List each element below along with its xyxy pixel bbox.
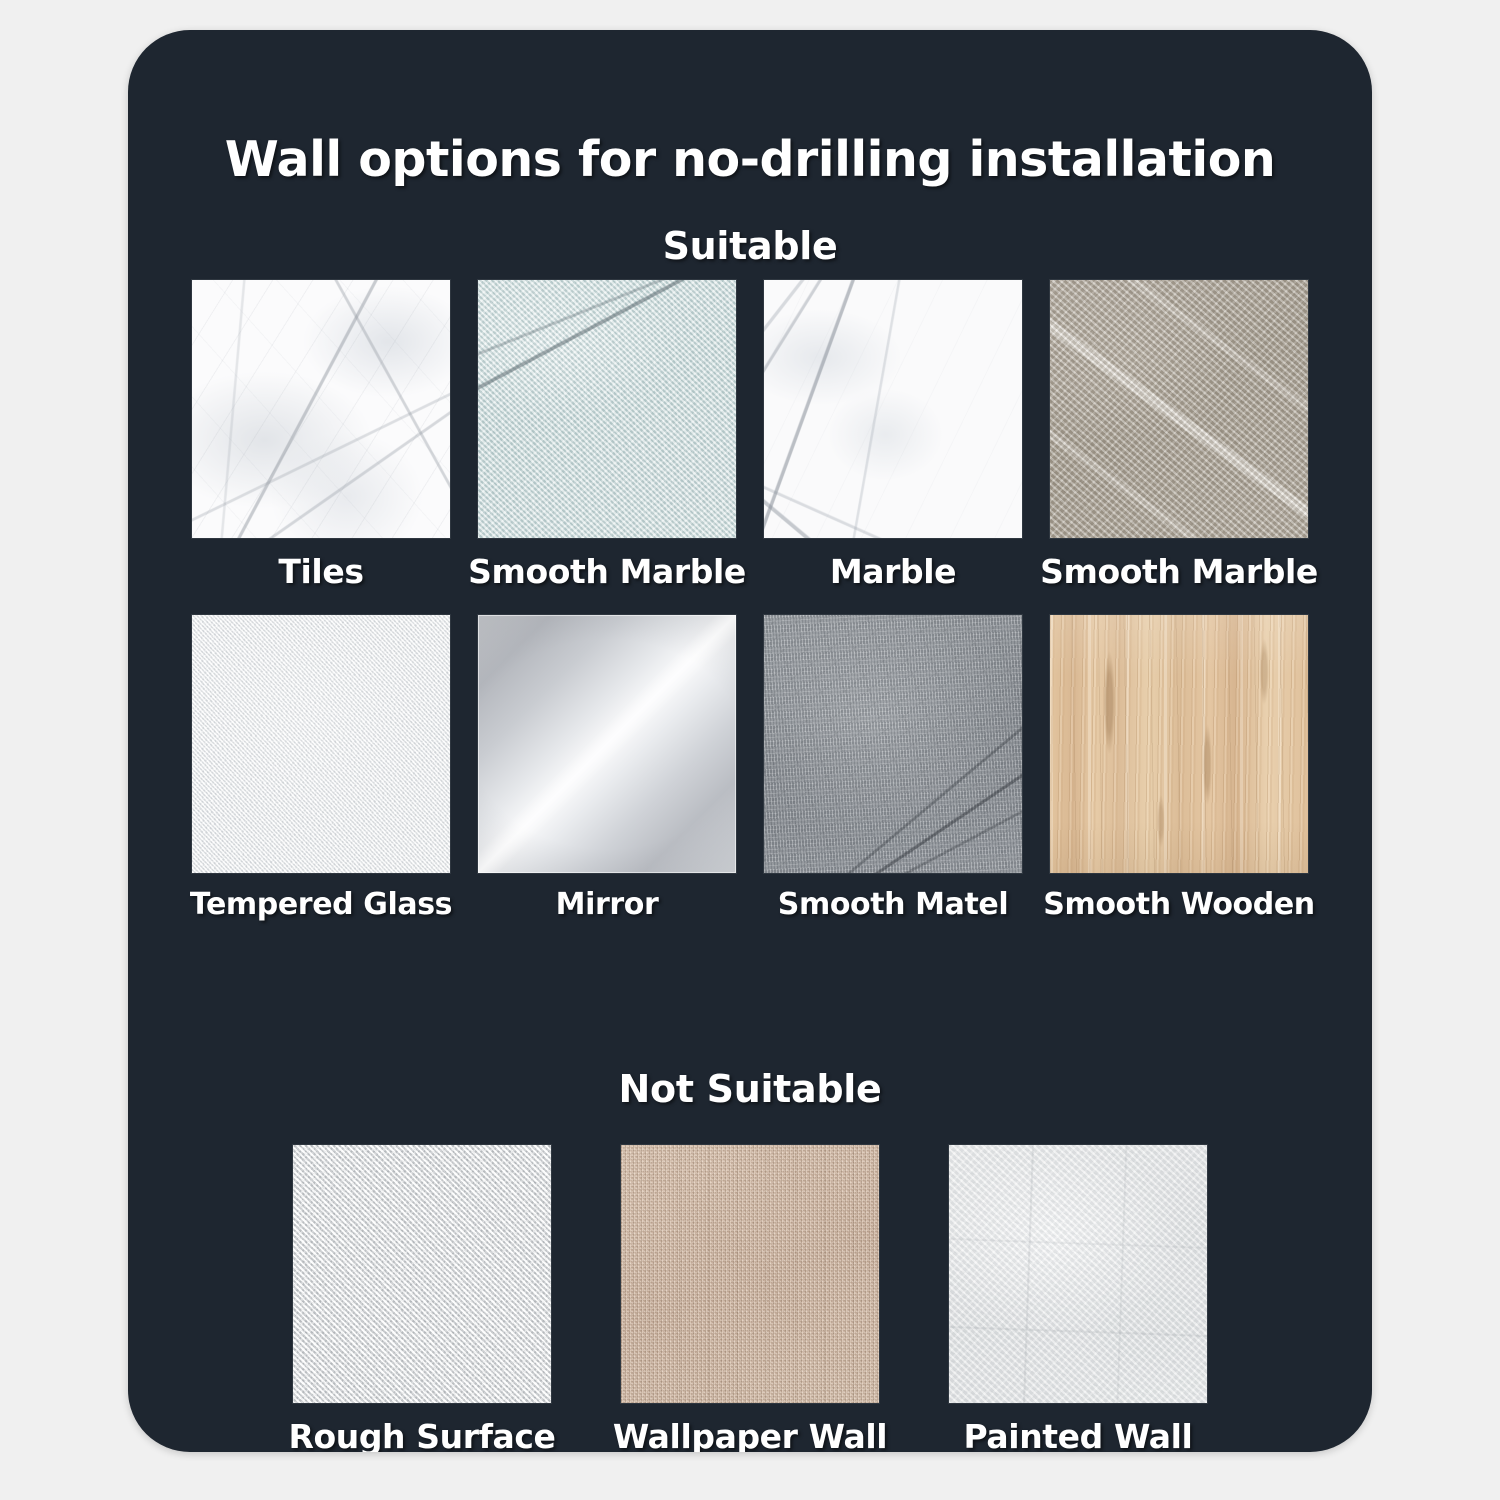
swatch-image-marble xyxy=(764,280,1022,538)
swatch-label-mirror: Mirror xyxy=(556,887,659,922)
suitable-grid-row-1: Tiles Smooth Marble Marble Smooth Marble xyxy=(128,280,1372,591)
swatch-label-smooth-marble-grey: Smooth Marble xyxy=(1040,552,1318,591)
swatch-label-smooth-marble-blue: Smooth Marble xyxy=(468,552,746,591)
swatch-label-smooth-wooden: Smooth Wooden xyxy=(1043,887,1314,922)
swatch-cell-smooth-wooden[interactable]: Smooth Wooden xyxy=(1050,615,1308,922)
swatch-cell-smooth-matel[interactable]: Smooth Matel xyxy=(764,615,1022,922)
page-title: Wall options for no-drilling installatio… xyxy=(128,131,1372,188)
swatch-label-wallpaper-wall: Wallpaper Wall xyxy=(613,1417,887,1452)
swatch-image-painted-wall xyxy=(949,1145,1207,1403)
section-heading-suitable: Suitable xyxy=(128,224,1372,268)
swatch-image-mirror xyxy=(478,615,736,873)
swatch-cell-tempered-glass[interactable]: Tempered Glass xyxy=(192,615,450,922)
swatch-label-rough-surface: Rough Surface xyxy=(288,1417,555,1452)
swatch-cell-wallpaper-wall[interactable]: Wallpaper Wall xyxy=(621,1145,879,1452)
swatch-image-rough-surface xyxy=(293,1145,551,1403)
not-suitable-grid-row-1: Rough Surface Wallpaper Wall Painted Wal… xyxy=(128,1145,1372,1452)
swatch-image-smooth-wooden xyxy=(1050,615,1308,873)
swatch-label-tiles: Tiles xyxy=(278,552,363,591)
swatch-image-smooth-matel xyxy=(764,615,1022,873)
swatch-cell-rough-surface[interactable]: Rough Surface xyxy=(293,1145,551,1452)
swatch-label-marble: Marble xyxy=(830,552,956,591)
swatch-label-painted-wall: Painted Wall xyxy=(964,1417,1193,1452)
swatch-label-tempered-glass: Tempered Glass xyxy=(190,887,452,922)
swatch-cell-mirror[interactable]: Mirror xyxy=(478,615,736,922)
swatch-image-smooth-marble-blue xyxy=(478,280,736,538)
swatch-cell-smooth-marble-blue[interactable]: Smooth Marble xyxy=(478,280,736,591)
swatch-image-smooth-marble-grey xyxy=(1050,280,1308,538)
swatch-label-smooth-matel: Smooth Matel xyxy=(778,887,1009,922)
swatch-cell-tiles[interactable]: Tiles xyxy=(192,280,450,591)
swatch-cell-painted-wall[interactable]: Painted Wall xyxy=(949,1145,1207,1452)
swatch-cell-marble[interactable]: Marble xyxy=(764,280,1022,591)
wall-options-card: Wall options for no-drilling installatio… xyxy=(128,30,1372,1452)
swatch-image-tiles xyxy=(192,280,450,538)
swatch-cell-smooth-marble-grey[interactable]: Smooth Marble xyxy=(1050,280,1308,591)
swatch-image-tempered-glass xyxy=(192,615,450,873)
swatch-image-wallpaper-wall xyxy=(621,1145,879,1403)
section-heading-not-suitable: Not Suitable xyxy=(128,1067,1372,1111)
screenshot-canvas: Wall options for no-drilling installatio… xyxy=(0,0,1500,1500)
suitable-grid-row-2: Tempered Glass Mirror Smooth Matel Smoot… xyxy=(128,615,1372,922)
